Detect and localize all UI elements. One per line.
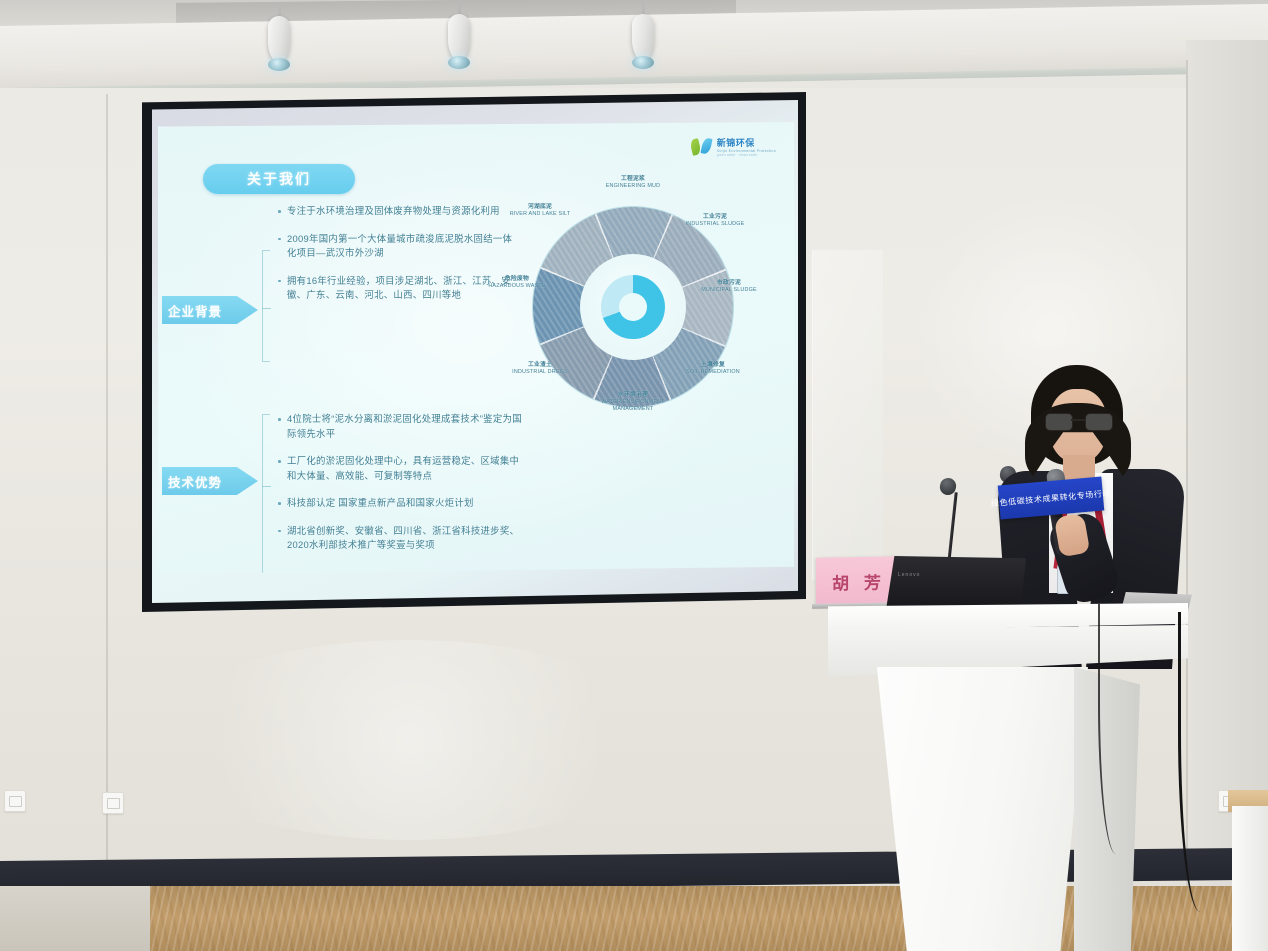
bracket-connector-1 xyxy=(262,308,271,309)
floor-tile-left xyxy=(0,886,150,951)
presentation-slide: 新锦环保 Xinjin Environmental Protection gre… xyxy=(158,122,794,574)
microphone-flag-text: 绿色低碳技术成果转化专场行动 xyxy=(991,487,1112,508)
ceiling-spotlight-right xyxy=(632,0,654,69)
wheel-label-cn: 工程泥浆 xyxy=(590,176,676,183)
logo-tagline: green water · clean earth xyxy=(717,153,776,157)
wheel-label-cn: 工业渣土 xyxy=(504,362,576,369)
section-tag-label: 企业背景 xyxy=(168,301,222,320)
name-plate-text: 胡 芳 xyxy=(832,568,886,594)
wall-outlet-left[interactable] xyxy=(4,790,26,812)
spotlight-body xyxy=(632,14,654,60)
section-tag-label: 技术优势 xyxy=(168,472,222,491)
spotlight-rod xyxy=(278,2,281,16)
wheel-label-en: HAZARDOUS WASTE xyxy=(486,283,548,290)
ceiling-spotlight-center xyxy=(448,0,470,69)
wall-seam-left xyxy=(106,94,108,864)
spotlight-lens xyxy=(448,56,470,69)
spotlight-body xyxy=(448,14,470,60)
bracket-connector-2 xyxy=(262,486,271,487)
wheel-label-industrial-sludge: 工业污泥 INDUSTRIAL SLUDGE xyxy=(684,214,746,228)
wheel-label-en: INDUSTRIAL DREGS xyxy=(504,369,576,376)
leaf-blue-icon xyxy=(700,137,712,155)
section-tag-company-background: 企业背景 xyxy=(162,296,258,324)
wheel-label-en: MUNICIPAL SLUDGE xyxy=(698,287,760,294)
wheel-label-cn: 水环境治理 xyxy=(590,392,676,399)
wheel-label-en: ENGINEERING MUD xyxy=(590,183,676,190)
spotlight-body xyxy=(268,16,290,62)
wheel-label-cn: 土壤修复 xyxy=(680,362,746,369)
wheel-center-ring xyxy=(601,275,665,339)
wheel-label-hazardous-waste: 危险废物 HAZARDOUS WASTE xyxy=(486,276,548,290)
bullet-item: 专注于水环境治理及固体废弃物处理与资源化利用 xyxy=(276,204,521,219)
slide-title: 关于我们 xyxy=(247,169,311,189)
section-tag-tech-advantage: 技术优势 xyxy=(162,467,258,495)
wheel-label-cn: 工业污泥 xyxy=(684,214,746,221)
slide-title-pill: 关于我们 xyxy=(203,164,355,194)
wheel-label-en: INDUSTRIAL SLUDGE xyxy=(684,221,746,228)
wheel-label-water-environment: 水环境治理 WATER ENVIRONMENT MANAGEMENT xyxy=(590,392,676,413)
leaf-green-icon xyxy=(689,138,702,156)
logo-name-cn: 新锦环保 xyxy=(717,136,776,149)
wheel-label-cn: 危险废物 xyxy=(486,276,548,283)
wheel-label-cn: 市政污泥 xyxy=(698,280,760,287)
wheel-label-engineering-mud: 工程泥浆 ENGINEERING MUD xyxy=(590,176,676,190)
bullet-item: 科技部认定 国家重点新产品和国家火炬计划 xyxy=(276,496,526,511)
wheel-label-river-lake-silt: 河湖底泥 RIVER AND LAKE SILT xyxy=(502,204,578,218)
bullet-list-company-background: 专注于水环境治理及固体废弃物处理与资源化利用 2009年国内第一个大体量城市疏浚… xyxy=(276,204,521,314)
eyeglass-lens-right xyxy=(1085,413,1113,431)
bullet-item: 4位院士将“泥水分离和淤泥固化处理成套技术”鉴定为国际领先水平 xyxy=(276,412,526,441)
eyeglasses-icon xyxy=(1045,413,1111,429)
spotlight-lens xyxy=(268,58,290,71)
eyeglass-lens-left xyxy=(1045,413,1073,431)
bullet-item: 拥有16年行业经验，项目涉足湖北、浙江、江苏、安徽、广东、云南、河北、山西、四川… xyxy=(276,274,521,303)
bullet-item: 2009年国内第一个大体量城市疏浚底泥脱水固结一体化项目—武汉市外沙湖 xyxy=(276,232,521,261)
glass-wall-panel xyxy=(812,250,883,580)
logo-text-block: 新锦环保 Xinjin Environmental Protection gre… xyxy=(717,136,776,157)
logo-leaf-marks xyxy=(691,137,713,157)
ceiling-spotlight-left xyxy=(268,2,290,71)
wheel-label-cn: 河湖底泥 xyxy=(502,204,578,211)
spotlight-rod xyxy=(458,0,461,14)
wheel-label-en: SOIL REMEDIATION xyxy=(680,369,746,376)
podium xyxy=(828,603,1188,951)
wall-highlight xyxy=(150,640,670,840)
wheel-label-industrial-dregs: 工业渣土 INDUSTRIAL DREGS xyxy=(504,362,576,376)
spotlight-lens xyxy=(632,56,654,69)
presentation-scene-photo: 新锦环保 Xinjin Environmental Protection gre… xyxy=(0,0,1268,951)
wheel-label-municipal-sludge: 市政污泥 MUNICIPAL SLUDGE xyxy=(698,280,760,294)
laptop-brand-label: Lenovo xyxy=(898,572,920,578)
wheel-label-en: RIVER AND LAKE SILT xyxy=(502,211,578,218)
side-table-body xyxy=(1232,806,1268,951)
business-scope-wheel: 工程泥浆 ENGINEERING MUD 工业污泥 INDUSTRIAL SLU… xyxy=(508,182,758,432)
wheel-label-soil-remediation: 土壤修复 SOIL REMEDIATION xyxy=(680,362,746,376)
podium-front-face xyxy=(856,667,1088,951)
bullet-bracket-1 xyxy=(262,250,270,362)
bullet-item: 工厂化的淤泥固化处理中心，具有运营稳定、区域集中和大体量、高效能、可复制等特点 xyxy=(276,454,526,483)
company-logo: 新锦环保 Xinjin Environmental Protection gre… xyxy=(691,136,776,157)
spotlight-rod xyxy=(642,0,645,14)
eyeglass-bridge xyxy=(1071,419,1085,421)
wall-outlet-center[interactable] xyxy=(102,792,124,814)
wheel-label-en: WATER ENVIRONMENT MANAGEMENT xyxy=(590,399,676,413)
bullet-list-tech-advantage: 4位院士将“泥水分离和淤泥固化处理成套技术”鉴定为国际领先水平 工厂化的淤泥固化… xyxy=(276,412,526,564)
bullet-item: 湖北省创新奖、安徽省、四川省、浙江省科技进步奖、2020水利部技术推广等奖壹与奖… xyxy=(276,524,526,553)
bullet-bracket-2 xyxy=(262,414,270,574)
